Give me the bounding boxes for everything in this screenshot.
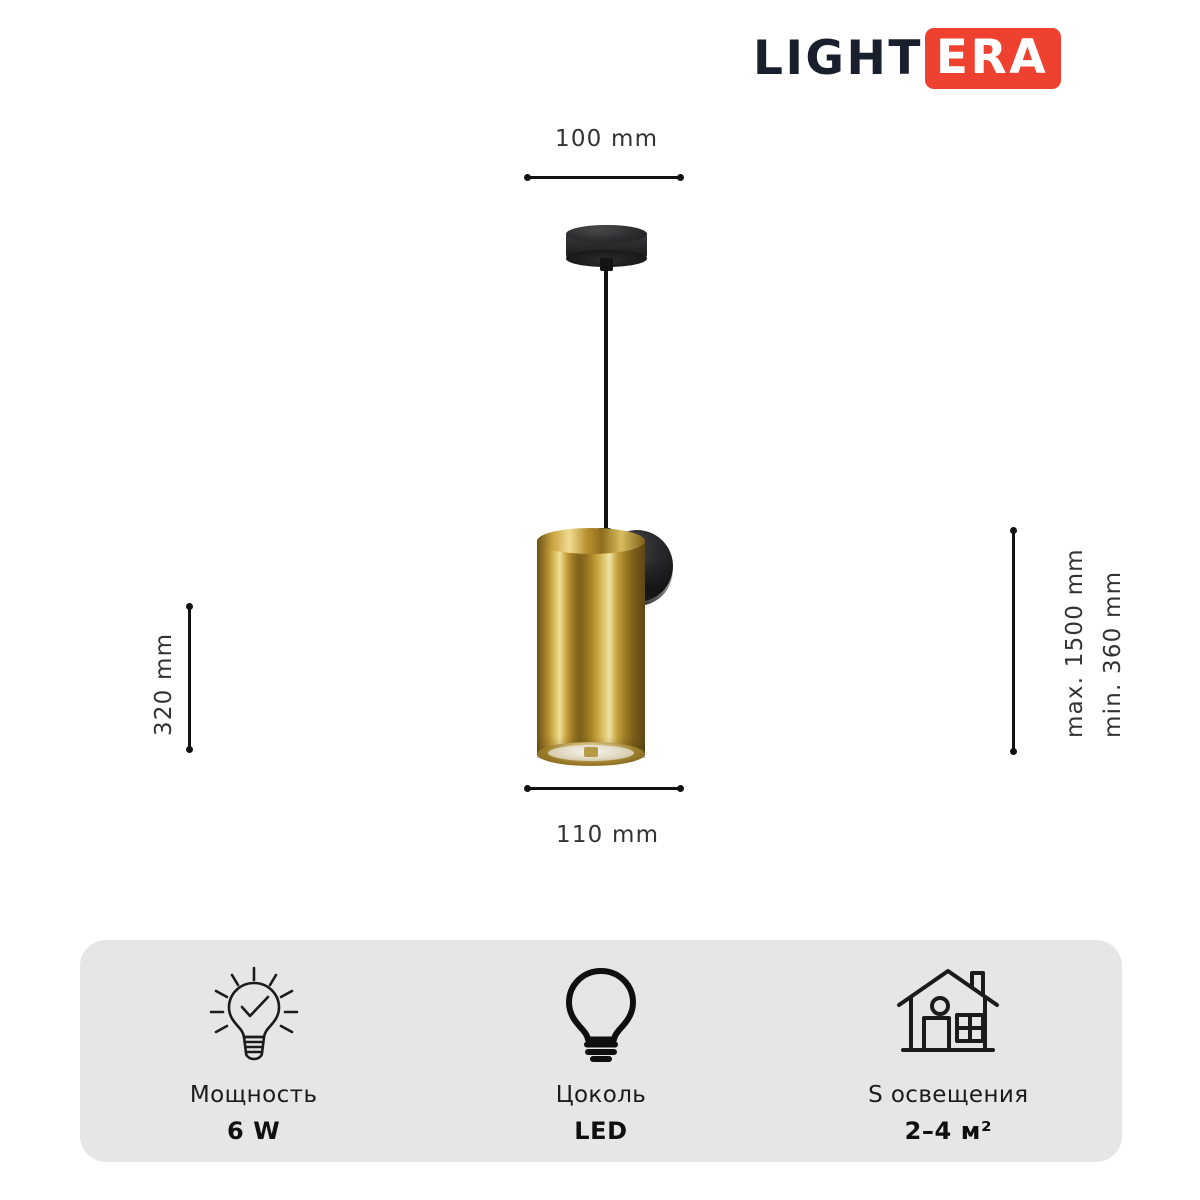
bulb-icon: [549, 962, 653, 1066]
spec-label-power: Мощность: [190, 1082, 318, 1108]
dimension-label-suspension-max: max. 1500 mm: [1062, 548, 1088, 738]
dimension-line-suspension: [1012, 528, 1015, 754]
specification-panel: Мощность 6 W Цоколь LED: [80, 940, 1122, 1162]
suspension-cord: [604, 266, 608, 543]
dimension-label-suspension-min: min. 360 mm: [1100, 571, 1126, 738]
ceiling-canopy-top: [566, 225, 647, 243]
dimension-line-bottom-width: [525, 787, 683, 790]
dimension-label-bottom-width: 110 mm: [556, 822, 659, 848]
dimension-line-fixture-height: [188, 604, 191, 752]
spec-item-power: Мощность 6 W: [80, 940, 427, 1162]
spec-item-socket: Цоколь LED: [427, 940, 774, 1162]
brass-cylinder-body: [537, 540, 645, 755]
spec-item-area: S освещения 2–4 м²: [775, 940, 1122, 1162]
brass-cylinder-top: [537, 528, 645, 554]
house-icon: [893, 962, 1003, 1066]
bulb-check-icon: [202, 962, 306, 1066]
spec-value-area: 2–4 м²: [905, 1117, 992, 1145]
spec-value-socket: LED: [574, 1117, 627, 1145]
spec-value-power: 6 W: [227, 1117, 280, 1145]
spec-label-area: S освещения: [868, 1082, 1028, 1108]
led-diffuser-center: [584, 747, 598, 757]
dimension-line-top-width: [525, 176, 683, 179]
spec-label-socket: Цоколь: [556, 1082, 647, 1108]
dimension-label-fixture-height: 320 mm: [151, 633, 177, 736]
dimension-label-top-width: 100 mm: [555, 126, 658, 152]
